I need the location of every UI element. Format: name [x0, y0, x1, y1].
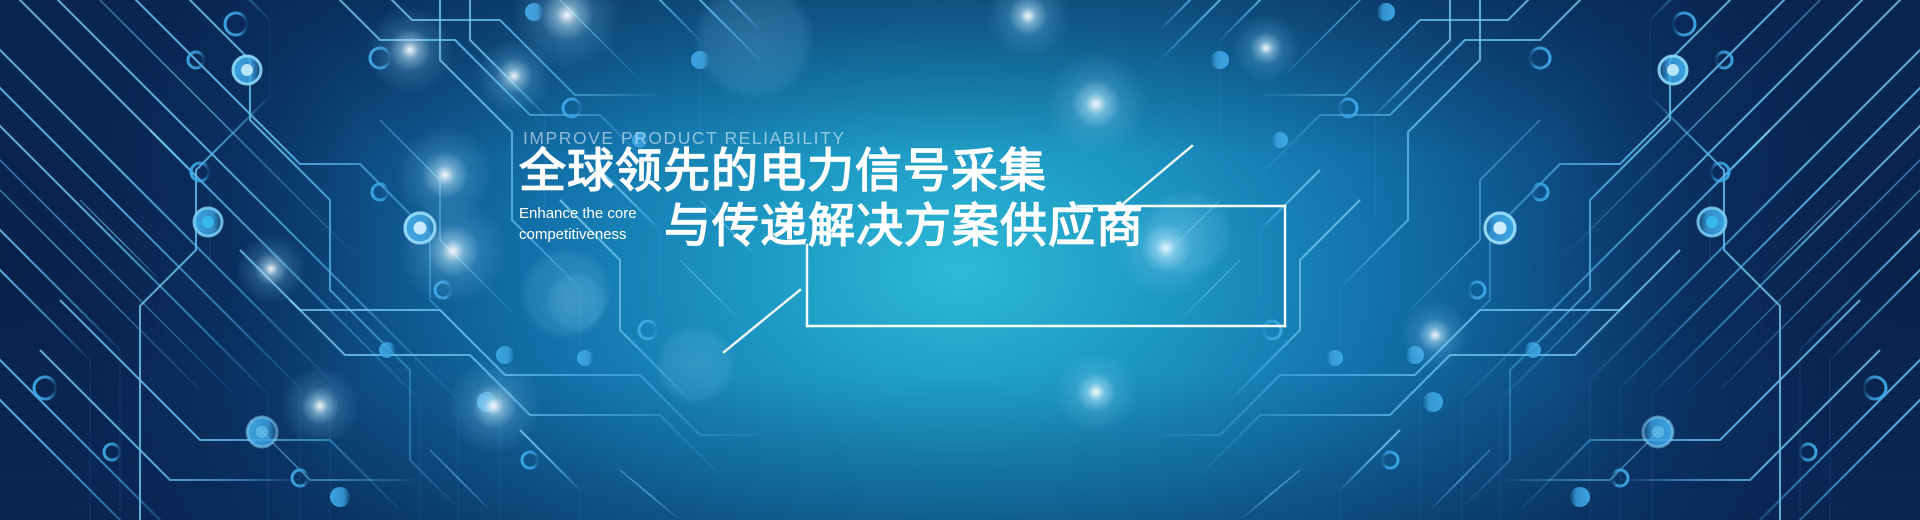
- hero-banner: IMPROVE PRODUCT RELIABILITY 全球领先的电力信号采集 …: [0, 0, 1920, 520]
- subline-line-1: Enhance the core: [519, 203, 664, 224]
- headline-line-1: 全球领先的电力信号采集: [519, 148, 1047, 195]
- subline-block: Enhance the core competitiveness: [519, 203, 664, 245]
- subline-line-2: competitiveness: [519, 224, 664, 245]
- headline-line-2: 与传递解决方案供应商: [664, 203, 1144, 250]
- hero-text-block: IMPROVE PRODUCT RELIABILITY 全球领先的电力信号采集 …: [0, 0, 1920, 520]
